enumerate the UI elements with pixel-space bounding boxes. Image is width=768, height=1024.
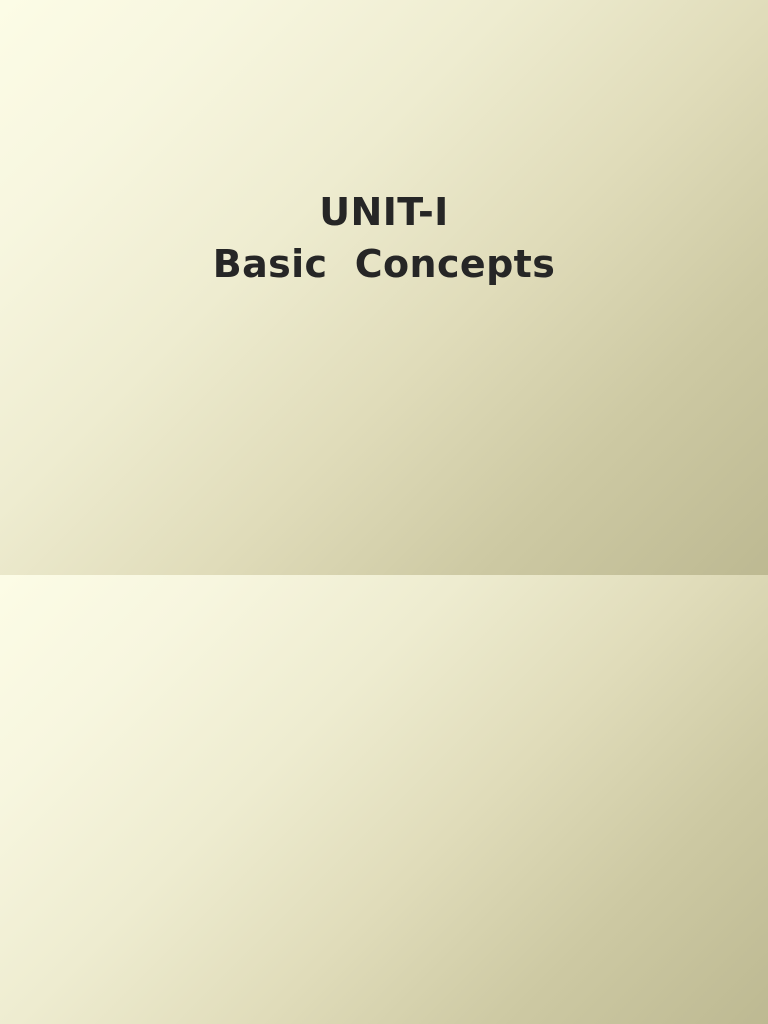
slide-title: UNIT-I Basic Concepts <box>0 0 768 575</box>
title-block: UNIT-I Basic Concepts <box>0 186 768 290</box>
presentation-deck: UNIT-I Basic Concepts Society The term s… <box>0 0 768 1024</box>
title-line-subject: Basic Concepts <box>0 238 768 290</box>
slide-society: Society The term society is the most fun… <box>0 575 768 1024</box>
title-line-unit: UNIT-I <box>0 186 768 238</box>
